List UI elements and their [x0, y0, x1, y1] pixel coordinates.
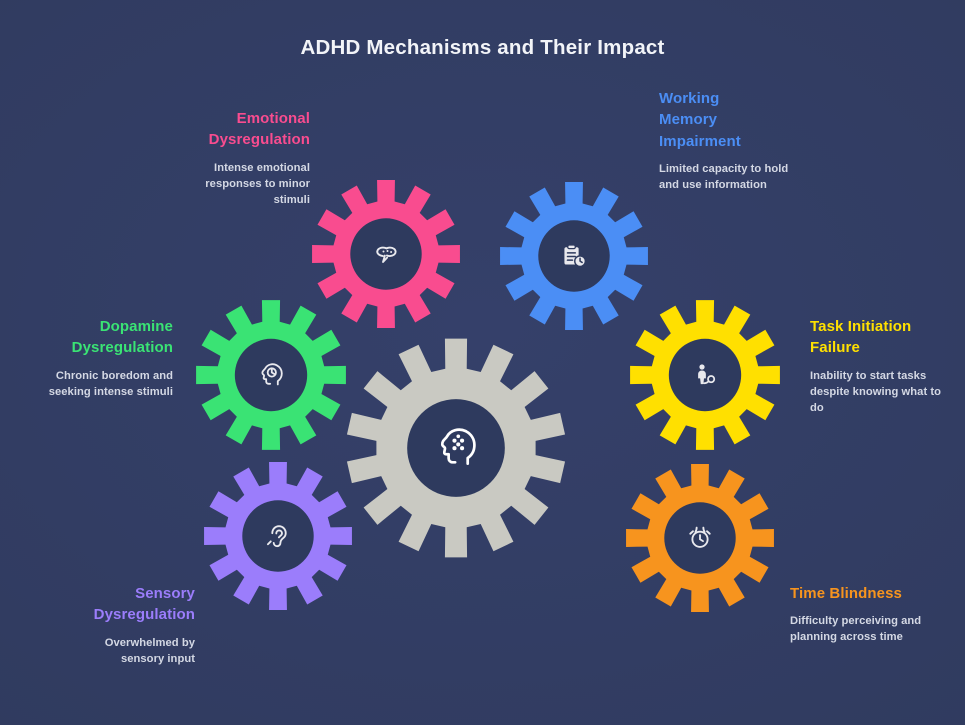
- gear-dopamine-dysregulation[interactable]: [194, 298, 348, 452]
- page-title: ADHD Mechanisms and Their Impact: [0, 36, 965, 60]
- title-line: Emotional: [237, 110, 310, 127]
- gear-shape-sensory: [202, 460, 354, 612]
- title-line: Task Initiation: [810, 318, 911, 335]
- label-sensory-dysregulation: Sensory Dysregulation Overwhelmed by sen…: [60, 583, 195, 667]
- label-title-sensory-dysregulation: Sensory Dysregulation: [60, 583, 195, 626]
- label-working-memory-impairment: Working Memory Impairment Limited capaci…: [659, 88, 799, 193]
- label-title-time-blindness: Time Blindness: [790, 583, 940, 604]
- label-title-emotional-dysregulation: Emotional Dysregulation: [170, 108, 310, 151]
- label-desc-time-blindness: Difficulty perceiving and planning acros…: [790, 613, 940, 645]
- label-desc-task-initiation-failure: Inability to start tasks despite knowing…: [810, 368, 955, 416]
- label-desc-dopamine-dysregulation: Chronic boredom and seeking intense stim…: [28, 368, 173, 400]
- label-desc-working-memory-impairment: Limited capacity to hold and use informa…: [659, 161, 799, 193]
- title-line: Memory: [659, 111, 717, 128]
- label-desc-sensory-dysregulation: Overwhelmed by sensory input: [60, 635, 195, 667]
- title-line: Time Blindness: [790, 585, 902, 602]
- gear-center[interactable]: [345, 337, 567, 559]
- gear-time-blindness[interactable]: [624, 462, 776, 614]
- title-line: Dysregulation: [72, 339, 173, 356]
- label-title-task-initiation-failure: Task Initiation Failure: [810, 316, 955, 359]
- gear-shape-task: [628, 298, 782, 452]
- label-dopamine-dysregulation: Dopamine Dysregulation Chronic boredom a…: [28, 316, 173, 400]
- title-line: Dopamine: [100, 318, 173, 335]
- gear-shape-time: [624, 462, 776, 614]
- label-title-working-memory-impairment: Working Memory Impairment: [659, 88, 799, 152]
- gear-shape-dopamine: [194, 298, 348, 452]
- title-line: Failure: [810, 339, 860, 356]
- label-task-initiation-failure: Task Initiation Failure Inability to sta…: [810, 316, 955, 416]
- title-line: Working: [659, 90, 719, 107]
- label-title-dopamine-dysregulation: Dopamine Dysregulation: [28, 316, 173, 359]
- gear-sensory-dysregulation[interactable]: [202, 460, 354, 612]
- title-line: Dysregulation: [209, 131, 310, 148]
- title-line: Impairment: [659, 133, 741, 150]
- title-line: Dysregulation: [94, 606, 195, 623]
- label-emotional-dysregulation: Emotional Dysregulation Intense emotiona…: [170, 108, 310, 208]
- label-desc-emotional-dysregulation: Intense emotional responses to minor sti…: [170, 160, 310, 208]
- title-line: Sensory: [135, 585, 195, 602]
- label-time-blindness: Time Blindness Difficulty perceiving and…: [790, 583, 940, 646]
- infographic-canvas: ADHD Mechanisms and Their Impact: [0, 0, 965, 725]
- gear-center-shape: [345, 337, 567, 559]
- gear-task-initiation-failure[interactable]: [628, 298, 782, 452]
